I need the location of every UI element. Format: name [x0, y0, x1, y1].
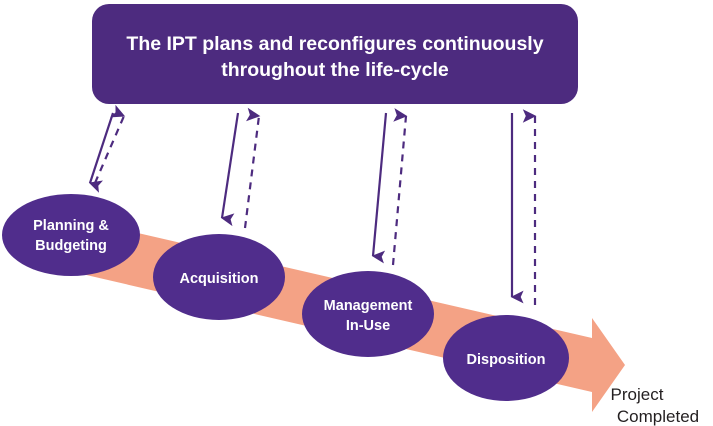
- connector-up-acquisition: [245, 116, 259, 228]
- lifecycle-diagram: The IPT plans and reconfigures continuou…: [0, 0, 713, 426]
- stage-label-planning-budgeting-line1: Planning &: [33, 218, 109, 234]
- stage-disposition[interactable]: Disposition: [443, 315, 569, 401]
- stage-label-management-in-use-line1: Management: [324, 298, 413, 314]
- ipt-title-line2: throughout the life-cycle: [221, 59, 449, 81]
- stage-management-in-use[interactable]: Management In-Use: [302, 271, 434, 357]
- diagram-canvas: The IPT plans and reconfigures continuou…: [0, 0, 713, 426]
- ipt-title-box: The IPT plans and reconfigures continuou…: [92, 4, 578, 104]
- ipt-title-line1: The IPT plans and reconfigures continuou…: [126, 33, 543, 55]
- stage-label-planning-budgeting-line2: Budgeting: [35, 238, 107, 254]
- stage-label-disposition-line1: Disposition: [467, 352, 546, 368]
- stage-planning-budgeting[interactable]: Planning & Budgeting: [2, 194, 140, 276]
- project-completed-line1: Project: [611, 385, 664, 404]
- connector-pair-management-in-use: [373, 113, 406, 265]
- stage-label-management-in-use-line2: In-Use: [346, 318, 390, 334]
- stage-label-acquisition-line1: Acquisition: [180, 271, 259, 287]
- connector-down-planning-budgeting: [90, 113, 113, 183]
- connector-down-acquisition: [222, 113, 238, 218]
- connector-up-management-in-use: [393, 116, 406, 265]
- connector-down-management-in-use: [373, 113, 386, 256]
- connector-pair-disposition: [512, 113, 535, 305]
- project-completed-line2: Completed: [617, 407, 699, 426]
- stage-acquisition[interactable]: Acquisition: [153, 234, 285, 320]
- project-completed-label: Project Completed: [611, 385, 700, 426]
- stage-ellipse-planning-budgeting[interactable]: [2, 194, 140, 276]
- connector-pair-planning-budgeting: [90, 113, 124, 183]
- stage-ellipse-management-in-use[interactable]: [302, 271, 434, 357]
- connector-pair-acquisition: [222, 113, 259, 228]
